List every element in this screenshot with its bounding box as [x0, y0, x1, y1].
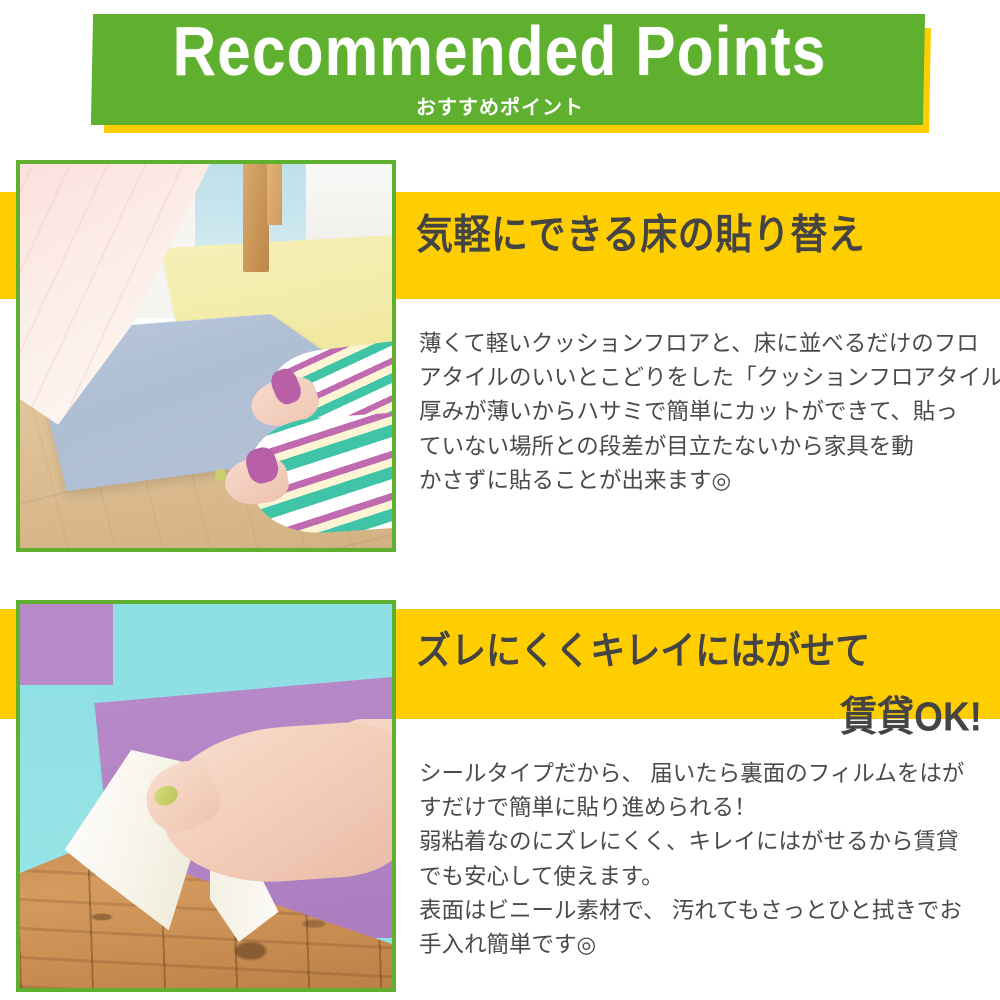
body-line: かさずに貼ることが出来ます◎	[419, 464, 991, 498]
body-line: 弱粘着なのにズレにくく、キレイにはがせるから賃貸	[419, 825, 991, 859]
photo-1-scene	[20, 164, 392, 548]
banner-text-group: Recommended Points おすすめポイント	[0, 0, 1000, 140]
body-line: でも安心して使えます。	[419, 860, 991, 894]
feature-1-headline: 気軽にできる床の貼り替え	[416, 212, 865, 259]
feature-2-headline-line1: ズレにくくキレイにはがせて	[416, 620, 982, 676]
feature-1-body: 薄くて軽いクッションフロアと、床に並べるだけのフロ アタイルのいいとこどりをした…	[419, 327, 991, 498]
body-line: 厚みが薄いからハサミで簡単にカットができて、貼っ	[419, 395, 991, 429]
feature-2-headline-group: ズレにくくキレイにはがせて 賃貸OK!	[416, 620, 982, 737]
bed-leg	[243, 164, 269, 272]
body-line: 表面はビニール素材で、 汚れてもさっとひと拭きでお	[419, 894, 991, 928]
bed-frame-edge	[267, 164, 282, 225]
feature-photo-1	[16, 160, 396, 552]
body-line: ていない場所との段差が目立たないから家具を動	[419, 430, 991, 464]
feature-2-headline-line2: 賃貸OK!	[416, 683, 982, 742]
body-line: シールタイプだから、 届いたら裏面のフィルムをはが	[419, 757, 991, 791]
feature-2-body: シールタイプだから、 届いたら裏面のフィルムをはが すだけで簡単に貼り進められる…	[419, 757, 991, 962]
purple-tile-top-left	[20, 604, 113, 685]
body-line: 手入れ簡単です◎	[419, 928, 991, 962]
page-subtitle: おすすめポイント	[416, 91, 584, 120]
body-line: 薄くて軽いクッションフロアと、床に並べるだけのフロ	[419, 327, 991, 361]
photo-2-scene	[20, 604, 392, 988]
feature-photo-2	[16, 600, 396, 992]
page-title: Recommended Points	[173, 16, 827, 89]
body-line: すだけで簡単に貼り進められる！	[419, 791, 991, 825]
body-line: アタイルのいいとこどりをした「クッションフロアタイル」。	[419, 361, 991, 395]
header-banner: Recommended Points おすすめポイント	[0, 0, 1000, 150]
